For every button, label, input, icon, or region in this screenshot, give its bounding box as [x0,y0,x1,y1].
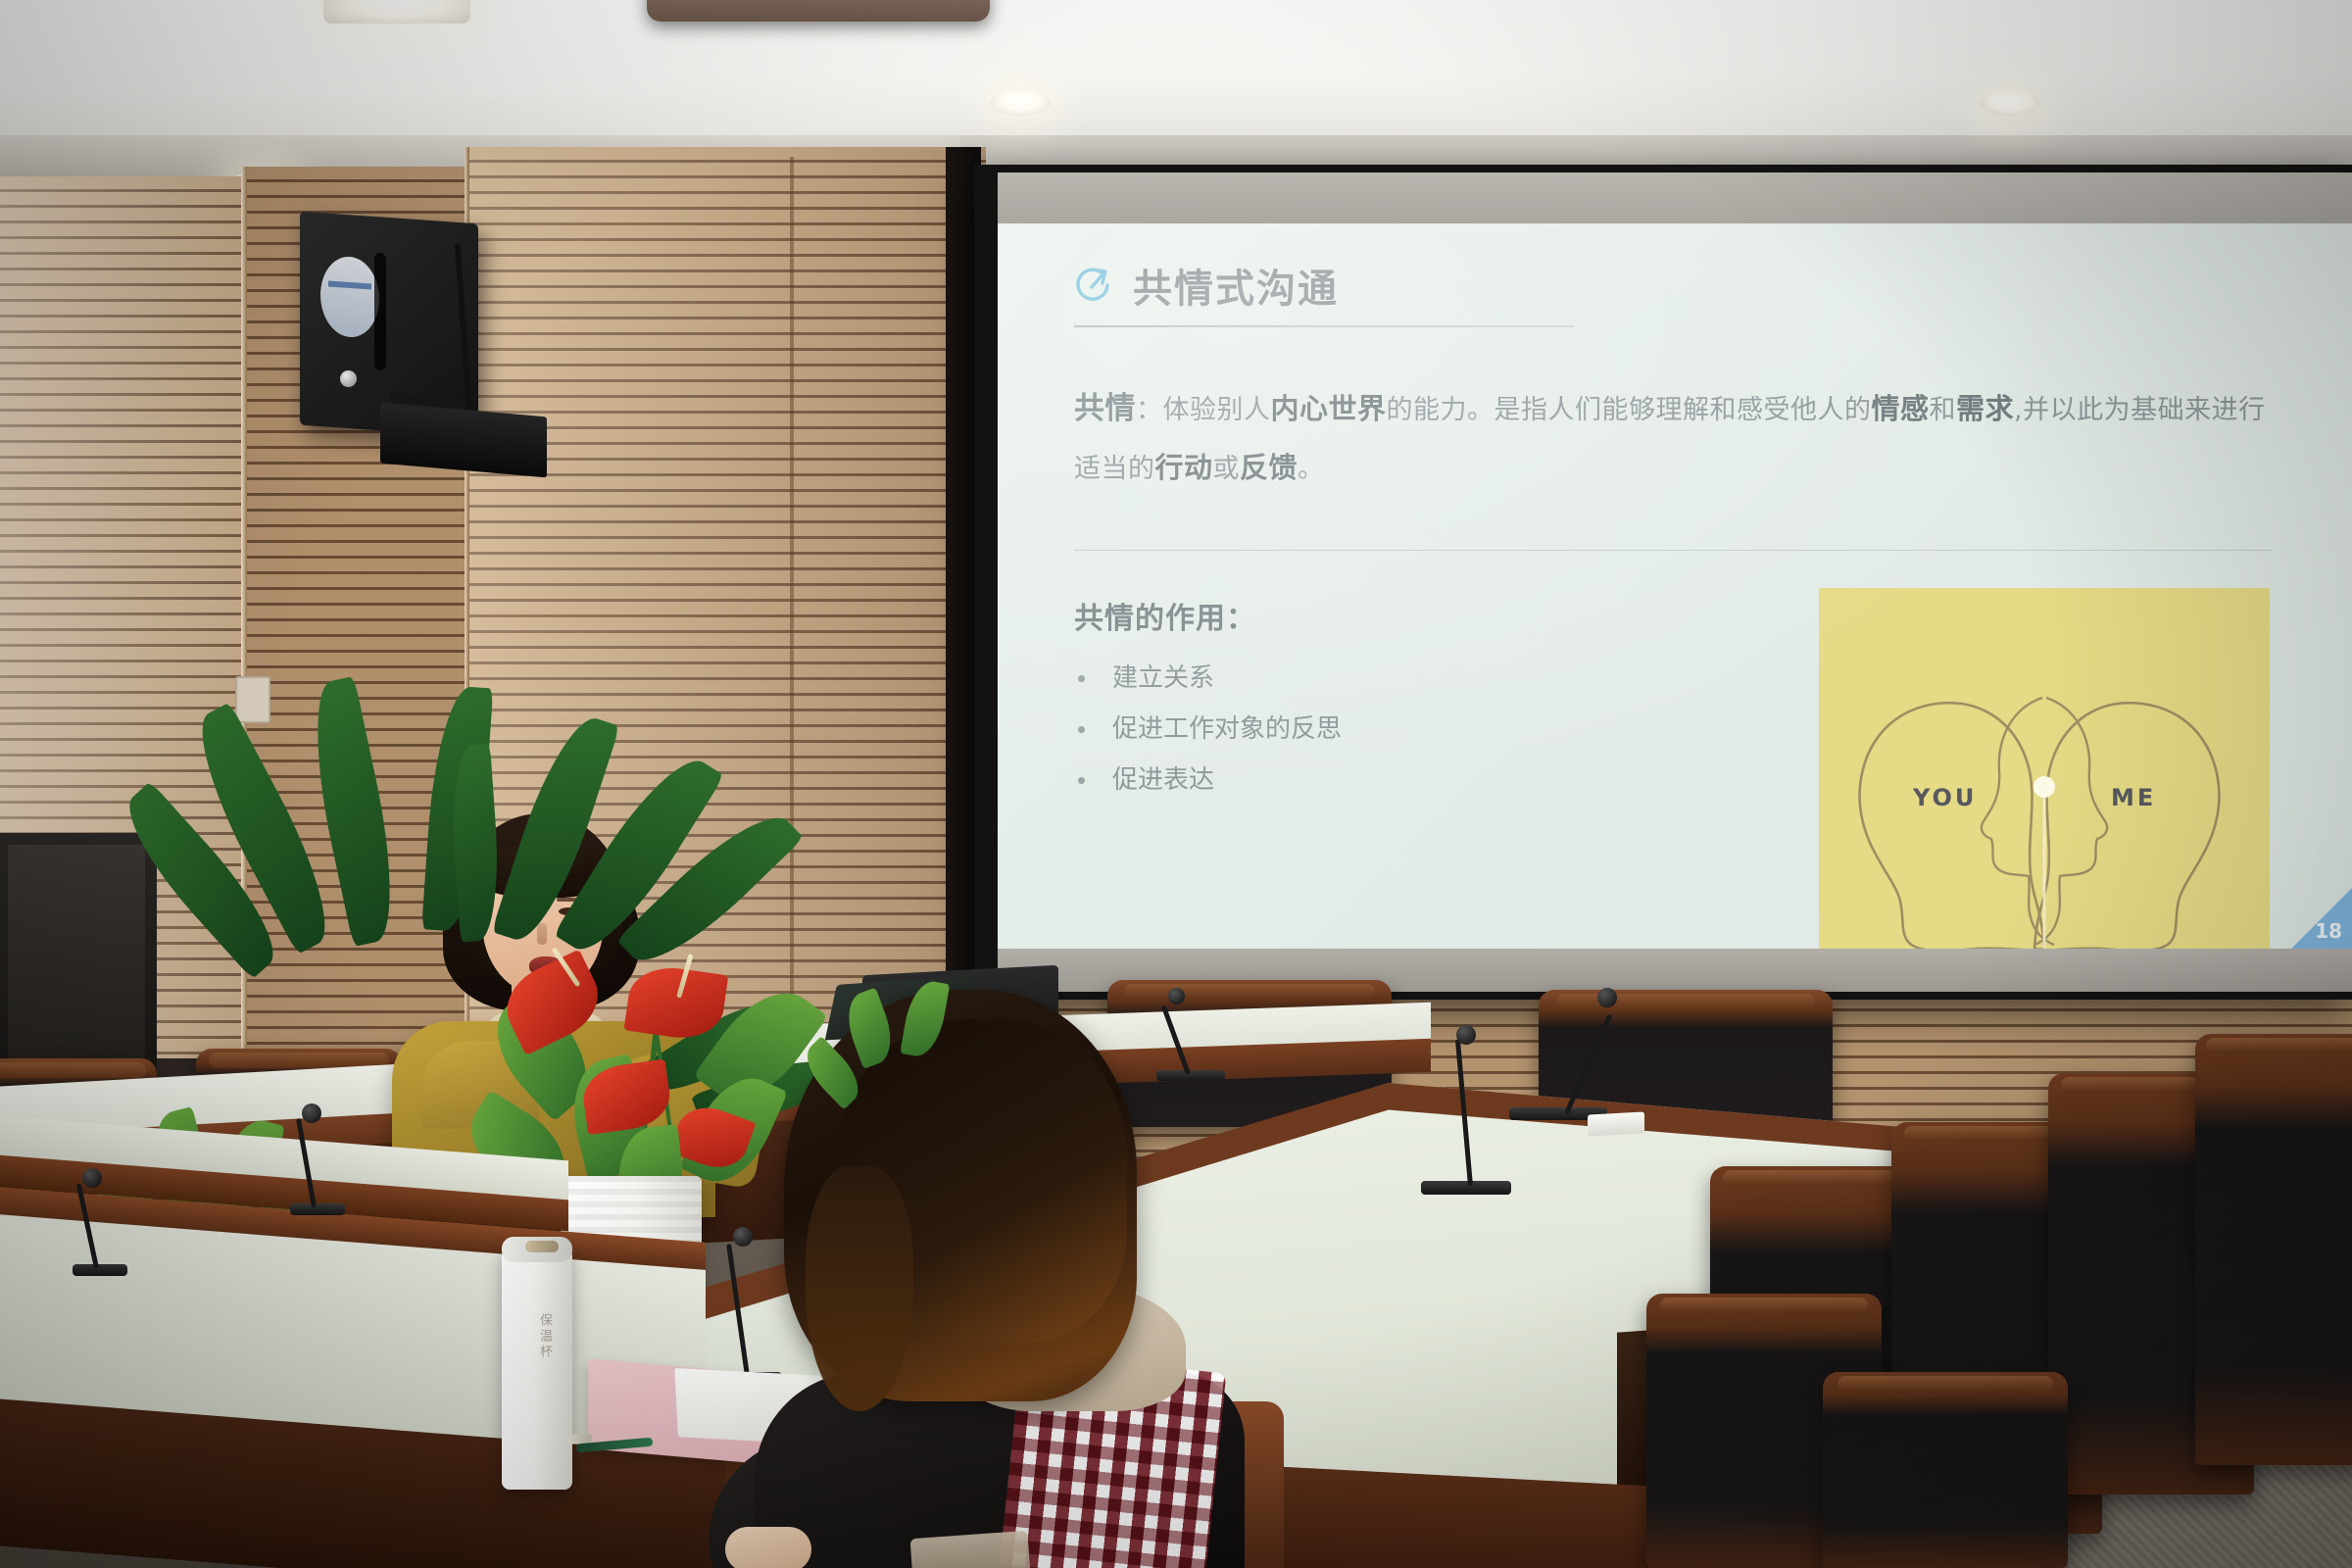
title-divider [1074,325,1574,327]
bullet-label: 促进工作对象的反思 [1112,704,1342,755]
wall-switch-plate [235,676,270,723]
slide-title: 共情式沟通 [1133,257,1339,314]
presentation-slide[interactable]: 共情式沟通 共情：体验别人内心世界的能力。是指人们能够理解和感受他人的情感和需求… [998,223,2352,949]
figure-label-me: ME [2111,784,2156,811]
section-divider [1074,550,2272,551]
downlight-icon [1980,90,2040,116]
slide-number: 18 [2315,919,2342,943]
paragraph-seg3: 和 [1930,395,1957,425]
white-thermos-bottle [502,1245,572,1490]
paragraph-seg6: 。 [1298,454,1325,484]
paragraph-seg1: 体验别人 [1163,395,1271,425]
slide-sub-heading: 共情的作用： [1074,594,1256,637]
paragraph-bold4: 行动 [1155,451,1213,484]
speaker-knob-icon [340,370,357,387]
chair [1823,1372,2068,1568]
paragraph-bold3: 需求 [1956,392,2014,425]
paper-card [1588,1111,1644,1136]
paragraph-colon: ： [1136,395,1163,425]
attendee-hand [725,1527,811,1568]
paragraph-seg5: 或 [1213,454,1241,484]
speaker-grille [374,253,386,371]
list-item: 促进工作对象的反思 [1078,704,1342,755]
paragraph-bold5: 反馈 [1240,451,1298,484]
two-heads-empathy-diagram: YOU ME WE Wondershare Filmora video edit… [1819,588,2270,949]
list-item: 促进表达 [1078,755,1342,806]
presenter-nose [537,923,547,945]
paragraph-bold1: 内心世界 [1271,392,1387,425]
paragraph-lead: 共情 [1074,391,1136,426]
slide-bullet-list: 建立关系 促进工作对象的反思 促进表达 [1078,653,1342,806]
downlight-icon [990,90,1051,116]
bullet-dot-icon [1078,675,1085,682]
thermos-label: 保温杯 [521,1313,555,1360]
slide-paragraph: 共情：体验别人内心世界的能力。是指人们能够理解和感受他人的情感和需求,并以此为基… [1074,380,2270,498]
ceiling-projector [647,0,990,22]
slide-title-row: 共情式沟通 [1072,257,1339,314]
bullet-dot-icon [1078,726,1085,733]
conference-room-scene: 共情式沟通 共情：体验别人内心世界的能力。是指人们能够理解和感受他人的情感和需求… [0,0,2352,1568]
figure-label-you: YOU [1913,784,1977,811]
chair [2195,1034,2352,1465]
circular-arrow-icon [1072,264,1115,307]
bullet-dot-icon [1078,777,1085,784]
list-item: 建立关系 [1078,653,1342,704]
bullet-label: 建立关系 [1112,653,1214,704]
paragraph-bold2: 情感 [1872,392,1930,425]
screen-top-margin [998,172,2352,225]
ceiling-light-panel-icon [323,0,470,24]
bullet-label: 促进表达 [1112,755,1214,806]
thermos-ring-icon [525,1241,559,1252]
attendee-hair-strand [806,1166,913,1411]
paragraph-seg2: 的能力。是指人们能够理解和感受他人的 [1387,395,1872,425]
